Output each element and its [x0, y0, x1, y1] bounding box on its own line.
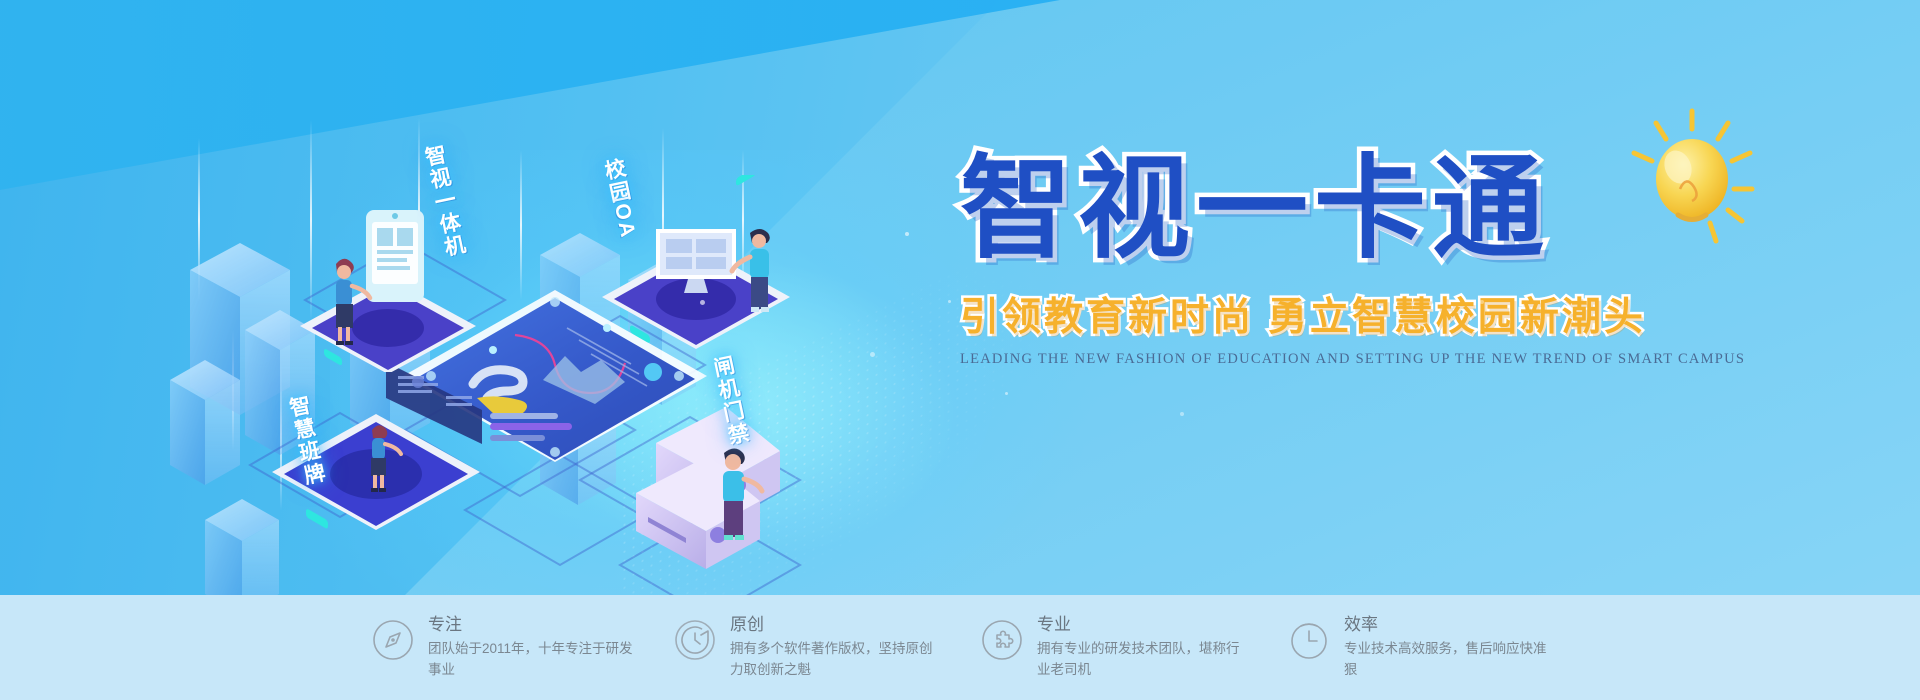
- device-gate-access-control: [630, 405, 870, 595]
- feature-item-professional: 专业 拥有专业的研发技术团队，堪称行业老司机: [981, 614, 1288, 681]
- hero-banner: 智视一体机 校园OA 智慧班牌 闸机门禁: [0, 0, 1920, 700]
- feature-desc: 团队始于2011年，十年专注于研发事业: [428, 639, 643, 681]
- sparkle: [1005, 392, 1008, 395]
- feature-title: 专注: [428, 614, 643, 635]
- feature-text: 专注 团队始于2011年，十年专注于研发事业: [428, 614, 643, 681]
- headline-block: 智视一卡通 引领教育新时尚 勇立智慧校园新潮头 LEADING THE NEW …: [960, 150, 1860, 368]
- device-all-in-one-kiosk: [300, 182, 500, 372]
- feature-desc: 拥有专业的研发技术团队，堪称行业老司机: [1037, 639, 1252, 681]
- english-tagline: LEADING THE NEW FASHION OF EDUCATION AND…: [960, 351, 1860, 368]
- page-title: 智视一卡通: [960, 150, 1860, 268]
- sparkle: [905, 232, 909, 236]
- feature-title: 原创: [730, 614, 945, 635]
- feature-item-focus: 专注 团队始于2011年，十年专注于研发事业: [372, 614, 674, 681]
- sparkle: [1480, 300, 1484, 304]
- feature-title: 专业: [1037, 614, 1252, 635]
- clock-rotate-icon: [674, 619, 716, 666]
- feature-title: 效率: [1344, 614, 1559, 635]
- feature-desc: 拥有多个软件著作版权，坚持原创力取创新之魁: [730, 639, 945, 681]
- clock-icon: [1288, 619, 1330, 666]
- feature-item-efficiency: 效率 专业技术高效服务，售后响应快准狠: [1288, 614, 1595, 681]
- sparkle: [870, 352, 875, 357]
- feature-desc: 专业技术高效服务，售后响应快准狠: [1344, 639, 1559, 681]
- puzzle-piece-icon: [981, 619, 1023, 666]
- feature-bar: 专注 团队始于2011年，十年专注于研发事业 原创 拥有多个软件著作版权，坚持原…: [0, 595, 1920, 700]
- sparkle: [948, 300, 951, 303]
- compass-icon: [372, 619, 414, 666]
- feature-text: 效率 专业技术高效服务，售后响应快准狠: [1344, 614, 1559, 681]
- feature-text: 原创 拥有多个软件著作版权，坚持原创力取创新之魁: [730, 614, 945, 681]
- sparkle: [700, 300, 705, 305]
- feature-text: 专业 拥有专业的研发技术团队，堪称行业老司机: [1037, 614, 1252, 681]
- page-subtitle: 引领教育新时尚 勇立智慧校园新潮头: [960, 286, 1860, 342]
- sparkle: [1180, 412, 1184, 416]
- feature-item-original: 原创 拥有多个软件著作版权，坚持原创力取创新之魁: [674, 614, 981, 681]
